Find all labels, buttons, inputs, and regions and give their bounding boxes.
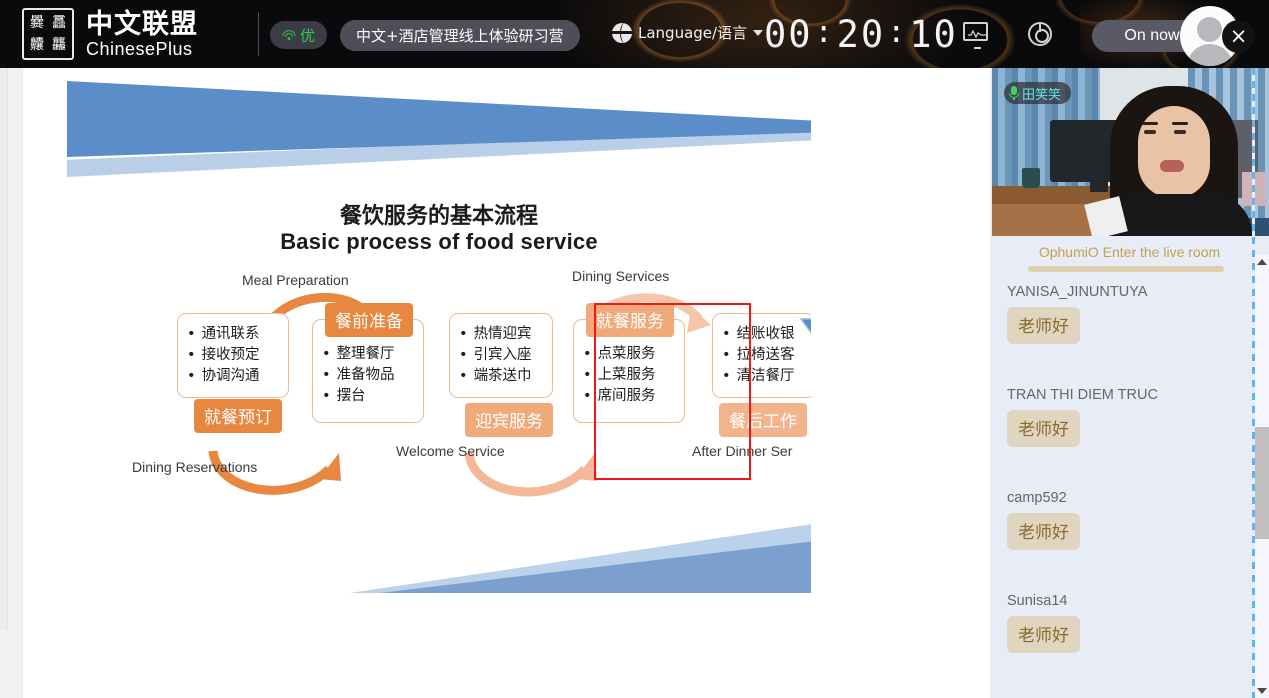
seal-glyph: 爨 <box>27 13 47 33</box>
flow-item: 协调沟通 <box>187 366 280 387</box>
chat-bubble: 老师好 <box>1007 307 1080 344</box>
scroll-up-arrow[interactable] <box>1257 259 1267 265</box>
timer-seconds: 10 <box>909 13 958 56</box>
enter-room-notice: OphumiO Enter the live room <box>990 244 1269 260</box>
flow-item: 摆台 <box>322 386 415 407</box>
list-item: YANISA_JINUNTUYA 老师好 <box>1007 284 1237 344</box>
seal-glyph: 靐 <box>49 13 69 33</box>
notice-underline <box>1028 266 1224 272</box>
globe-icon <box>612 23 632 43</box>
close-glyph: × <box>1230 26 1248 47</box>
slide-stage: 餐饮服务的基本流程 Basic process of food service <box>0 68 990 698</box>
seal-glyph: 齉 <box>27 35 47 55</box>
live-status-label: On now <box>1124 27 1179 45</box>
app-root: 爨 靐 齉 龘 中文联盟 ChinesePlus 优 中文+酒店管理线上体验研习… <box>0 0 1269 698</box>
chat-scrollbar[interactable] <box>1255 255 1269 698</box>
scroll-down-arrow[interactable] <box>1257 688 1267 694</box>
flow-tag-preparation: 餐前准备 <box>325 303 413 337</box>
wifi-icon <box>282 30 296 41</box>
flow-box-welcome[interactable]: 热情迎宾 引宾入座 端茶送巾 <box>449 313 553 398</box>
red-highlight-rectangle <box>594 303 751 480</box>
timer-sep: : <box>813 15 837 50</box>
stage-label-welcome-service: Welcome Service <box>396 443 505 459</box>
seal-glyph: 龘 <box>49 35 69 55</box>
network-quality-label: 优 <box>300 25 315 46</box>
chat-bubble: 老师好 <box>1007 513 1080 550</box>
session-timer: 00 : 20 : 10 <box>764 13 958 56</box>
speaker-video[interactable]: 田笑笑 <box>992 68 1269 236</box>
flow-item: 接收预定 <box>187 345 280 366</box>
language-selector[interactable]: Language/语言 <box>612 22 763 43</box>
stage-label-meal-preparation: Meal Preparation <box>242 272 349 288</box>
presentation-slide[interactable]: 餐饮服务的基本流程 Basic process of food service <box>67 81 811 593</box>
speaker-name-tag: 田笑笑 <box>1004 82 1071 104</box>
flow-item: 准备物品 <box>322 365 415 386</box>
app-header: 爨 靐 齉 龘 中文联盟 ChinesePlus 优 中文+酒店管理线上体验研习… <box>0 0 1269 68</box>
stage-label-dining-reservations: Dining Reservations <box>132 459 257 475</box>
chat-bubble: 老师好 <box>1007 616 1080 653</box>
brand-name-cn: 中文联盟 <box>86 11 198 38</box>
flow-item: 热情迎宾 <box>459 324 544 345</box>
list-item: TRAN THI DIEM TRUC 老师好 <box>1007 387 1237 447</box>
microphone-icon <box>1010 86 1018 100</box>
flow-item: 通讯联系 <box>187 324 280 345</box>
stage-left-strip <box>0 68 8 630</box>
flow-tag-reservation: 就餐预订 <box>194 399 282 433</box>
speaker-name-label: 田笑笑 <box>1022 84 1061 103</box>
timer-sep: : <box>885 15 909 50</box>
flow-box-reservation[interactable]: 通讯联系 接收预定 协调沟通 <box>177 313 289 398</box>
right-panel: 田笑笑 OphumiO Enter the live room YANISA_J… <box>990 68 1269 698</box>
chat-username: TRAN THI DIEM TRUC <box>1007 387 1237 403</box>
chat-bubble: 老师好 <box>1007 410 1080 447</box>
close-icon[interactable]: × <box>1222 20 1255 53</box>
flow-item: 端茶送巾 <box>459 366 544 387</box>
chat-username: Sunisa14 <box>1007 593 1237 609</box>
list-item: camp592 老师好 <box>1007 490 1237 550</box>
course-title-pill[interactable]: 中文+酒店管理线上体验研习营 <box>340 20 580 51</box>
timer-minutes: 20 <box>837 13 886 56</box>
power-signal-icon[interactable] <box>1028 22 1054 48</box>
arrow-welcome <box>463 431 603 503</box>
slide-title-en: Basic process of food service <box>67 229 811 255</box>
chat-username: camp592 <box>1007 490 1237 506</box>
brand-name-en: ChinesePlus <box>86 40 198 58</box>
network-monitor-icon[interactable] <box>963 22 989 48</box>
slide-title-cn: 餐饮服务的基本流程 <box>67 198 811 230</box>
network-quality-badge[interactable]: 优 <box>270 21 327 49</box>
timer-hours: 00 <box>764 13 813 56</box>
header-divider <box>258 12 259 56</box>
blue-down-arrow <box>799 267 811 363</box>
chat-username: YANISA_JINUNTUYA <box>1007 284 1237 300</box>
scrollbar-thumb[interactable] <box>1255 427 1269 539</box>
flow-tag-welcome: 迎宾服务 <box>465 403 553 437</box>
flow-item: 整理餐厅 <box>322 344 415 365</box>
stage-label-dining-services: Dining Services <box>572 268 669 284</box>
chat-message-list[interactable]: YANISA_JINUNTUYA 老师好 TRAN THI DIEM TRUC … <box>990 284 1252 698</box>
flow-item: 引宾入座 <box>459 345 544 366</box>
list-item: Sunisa14 老师好 <box>1007 593 1237 653</box>
course-title-label: 中文+酒店管理线上体验研习营 <box>356 25 564 46</box>
brand-logo[interactable]: 爨 靐 齉 龘 中文联盟 ChinesePlus <box>22 8 198 60</box>
slide-sheet: 餐饮服务的基本流程 Basic process of food service <box>22 68 990 698</box>
chevron-down-icon <box>753 30 763 36</box>
brand-name: 中文联盟 ChinesePlus <box>86 11 198 58</box>
language-label: Language/语言 <box>638 22 747 43</box>
seal-icon: 爨 靐 齉 龘 <box>22 8 74 60</box>
